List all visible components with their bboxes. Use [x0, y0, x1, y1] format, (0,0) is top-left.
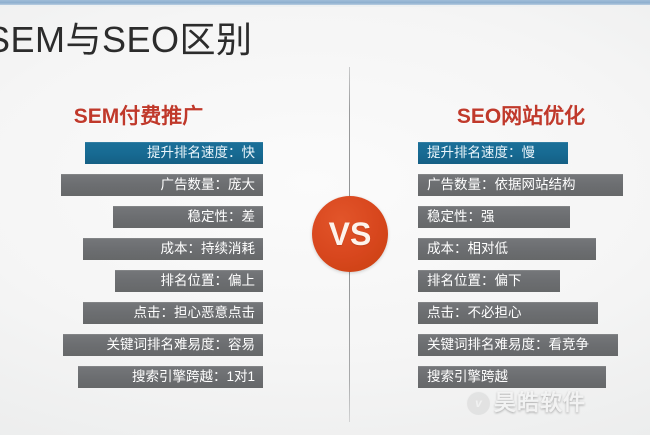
comparison-row: 关键词排名难易度：看竞争: [418, 334, 618, 356]
comparison-row: 成本：相对低: [418, 238, 596, 260]
comparison-row: 稳定性：差: [113, 206, 263, 228]
top-accent-rule-shadow: [0, 5, 650, 7]
comparison-row: 点击：担心恶意点击: [83, 302, 263, 324]
comparison-row: 稳定性：强: [418, 206, 570, 228]
comparison-row: 点击：不必担心: [418, 302, 598, 324]
comparison-row: 成本：持续消耗: [83, 238, 263, 260]
column-sem-heading: SEM付费推广: [20, 104, 263, 134]
vs-badge: VS: [312, 196, 388, 272]
comparison-row: 提升排名速度：快: [85, 142, 263, 164]
column-seo-heading: SEO网站优化: [418, 104, 650, 134]
comparison-row: 排名位置：偏下: [418, 270, 560, 292]
column-sem-rows: 提升排名速度：快广告数量：庞大稳定性：差成本：持续消耗排名位置：偏上点击：担心恶…: [20, 142, 263, 388]
column-seo: SEO网站优化 提升排名速度：慢广告数量：依据网站结构稳定性：强成本：相对低排名…: [418, 104, 650, 398]
slide-canvas: SEM与SEO区别 VS SEM付费推广 提升排名速度：快广告数量：庞大稳定性：…: [0, 0, 650, 435]
page-title: SEM与SEO区别: [0, 18, 346, 62]
comparison-row: 提升排名速度：慢: [418, 142, 568, 164]
vs-badge-label: VS: [329, 218, 372, 250]
comparison-row: 搜索引擎跨越：1对1: [78, 366, 263, 388]
comparison-row: 广告数量：依据网站结构: [418, 174, 623, 196]
column-sem: SEM付费推广 提升排名速度：快广告数量：庞大稳定性：差成本：持续消耗排名位置：…: [20, 104, 263, 398]
comparison-row: 广告数量：庞大: [61, 174, 263, 196]
comparison-row: 搜索引擎跨越: [418, 366, 606, 388]
column-seo-rows: 提升排名速度：慢广告数量：依据网站结构稳定性：强成本：相对低排名位置：偏下点击：…: [418, 142, 650, 388]
comparison-row: 关键词排名难易度：容易: [63, 334, 263, 356]
comparison-row: 排名位置：偏上: [115, 270, 263, 292]
